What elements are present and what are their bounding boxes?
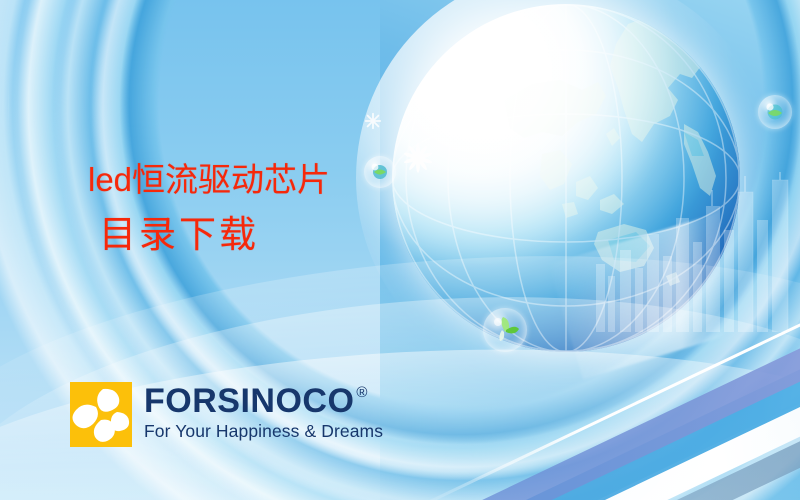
brand-tagline: For Your Happiness & Dreams [144, 423, 383, 441]
ribbon-hairline [429, 259, 800, 500]
bubble-leaf-icon [483, 308, 527, 352]
brand-name: FORSINOCO [144, 384, 354, 418]
globe-landmass-accent [608, 132, 704, 262]
background-wave-band-3 [0, 219, 800, 500]
headline-line-2: 目录下载 [99, 217, 428, 255]
globe-sphere [392, 4, 740, 352]
globe-grid-lines [392, 4, 740, 352]
ribbon-white [444, 315, 800, 500]
flower-small-upper-icon [364, 112, 382, 135]
cityscape-silhouette [590, 172, 800, 332]
pinwheel-petals-icon [73, 389, 130, 442]
globe-landmass-group [504, 8, 728, 286]
ribbon-blue [439, 292, 800, 500]
headline: led恒流驱动芯片 目录下载 [88, 163, 428, 254]
bubble-corner-icon [758, 95, 792, 129]
ribbon-grey [465, 343, 800, 500]
headline-line-1: led恒流驱动芯片 [88, 163, 428, 197]
background-sky-right [380, 0, 800, 500]
brand-text-block: FORSINOCO ® For Your Happiness & Dreams [144, 382, 383, 441]
brand-name-row: FORSINOCO ® [144, 384, 383, 418]
globe-specular-highlight [392, 4, 740, 352]
promo-banner: led恒流驱动芯片 目录下载 FORSINOCO ® [0, 0, 800, 500]
registered-trademark-icon: ® [356, 385, 367, 400]
light-streak [548, 189, 800, 380]
ribbon-purple [446, 276, 800, 500]
globe-continents-and-grid [392, 4, 740, 352]
forsinoco-logo-mark [70, 382, 132, 447]
brand-lockup: FORSINOCO ® For Your Happiness & Dreams [70, 382, 383, 447]
